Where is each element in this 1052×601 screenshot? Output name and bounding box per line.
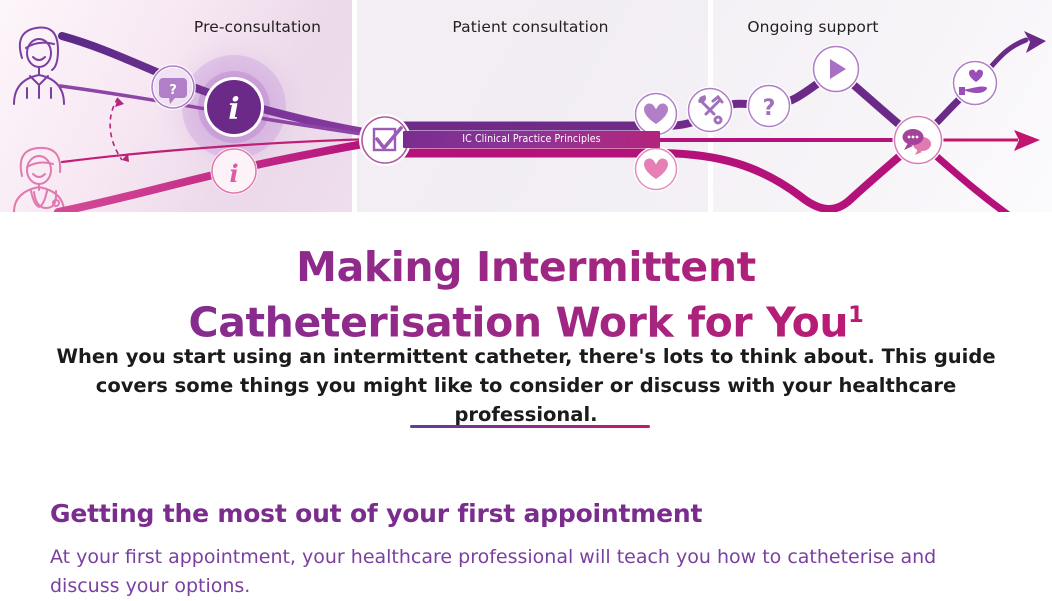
node-information-icon-secondary: i xyxy=(212,149,256,193)
svg-text:i: i xyxy=(229,159,238,188)
node-question-speech-bubble-icon: ? xyxy=(152,66,194,108)
journey-banner: ? i i xyxy=(0,0,1052,212)
node-tools-icon xyxy=(688,88,732,132)
page-root: ? i i xyxy=(0,0,1052,588)
svg-text:?: ? xyxy=(169,83,177,98)
node-information-icon-primary: i xyxy=(204,77,264,137)
intro-paragraph: When you start using an intermittent cat… xyxy=(56,342,996,429)
page-title: Making Intermittent Catheterisation Work… xyxy=(0,243,1052,347)
stage-label-pre-consultation: Pre-consultation xyxy=(160,18,355,36)
stage-label-ongoing-support: Ongoing support xyxy=(723,18,903,36)
gradient-divider xyxy=(410,425,650,428)
node-heart-icon-upper xyxy=(635,93,677,135)
page-title-line-2: Catheterisation Work for You xyxy=(189,299,849,347)
node-play-button-icon xyxy=(813,46,859,92)
node-hand-heart-icon xyxy=(953,61,997,105)
stage-label-patient-consultation: Patient consultation xyxy=(428,18,633,36)
section-body: At your first appointment, your healthca… xyxy=(50,543,1005,601)
healthcare-professional-avatar xyxy=(14,148,64,212)
node-checkbox-tick-icon xyxy=(361,116,409,164)
node-question-mark-icon: ? xyxy=(748,85,790,127)
svg-text:i: i xyxy=(228,92,239,127)
node-heart-icon-lower xyxy=(635,148,677,190)
node-chat-bubbles-icon xyxy=(894,116,942,164)
svg-text:?: ? xyxy=(763,96,776,121)
ic-principles-label: IC Clinical Practice Principles xyxy=(403,132,660,147)
page-title-line-1: Making Intermittent xyxy=(296,243,756,291)
patient-avatar xyxy=(14,27,64,104)
section-heading: Getting the most out of your first appoi… xyxy=(50,499,702,528)
page-title-superscript: 1 xyxy=(848,302,863,328)
